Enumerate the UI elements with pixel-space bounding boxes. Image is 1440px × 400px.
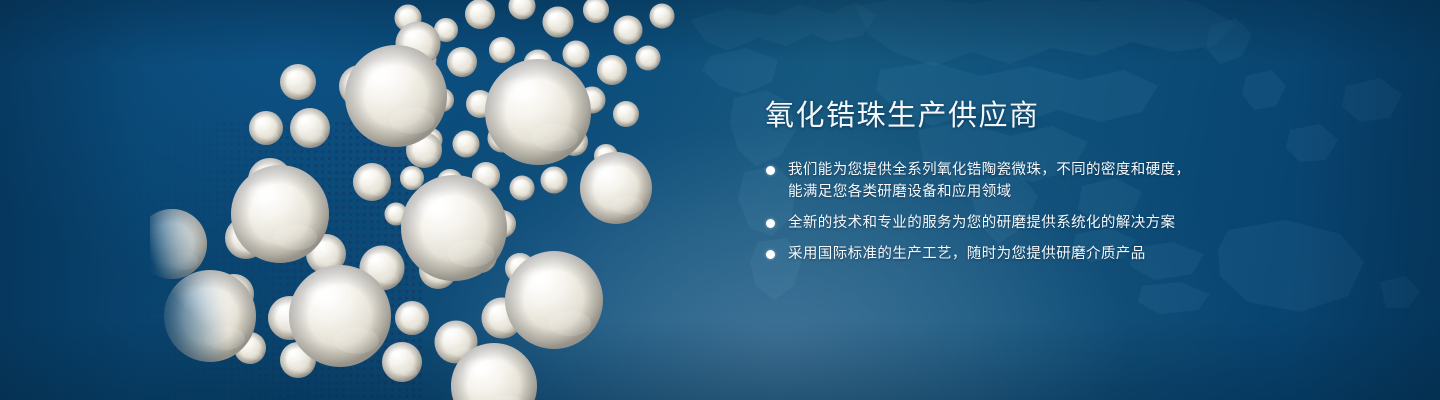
bullet-line: 全新的技术和专业的服务为您的研磨提供系统化的解决方案 bbox=[788, 212, 1322, 234]
list-item: 采用国际标准的生产工艺，随时为您提供研磨介质产品 bbox=[762, 243, 1322, 265]
zirconia-beads-photo bbox=[150, 0, 710, 400]
bullet-dot-icon bbox=[766, 166, 775, 175]
list-item: 全新的技术和专业的服务为您的研磨提供系统化的解决方案 bbox=[762, 212, 1322, 234]
list-item: 我们能为您提供全系列氧化锆陶瓷微珠，不同的密度和硬度， 能满足您各类研磨设备和应… bbox=[762, 159, 1322, 203]
hero-banner: 氧化锆珠生产供应商 我们能为您提供全系列氧化锆陶瓷微珠，不同的密度和硬度， 能满… bbox=[0, 0, 1440, 400]
banner-content: 氧化锆珠生产供应商 我们能为您提供全系列氧化锆陶瓷微珠，不同的密度和硬度， 能满… bbox=[762, 100, 1322, 265]
bullet-line: 采用国际标准的生产工艺，随时为您提供研磨介质产品 bbox=[788, 243, 1322, 265]
bullet-dot-icon bbox=[766, 219, 775, 228]
bullet-dot-icon bbox=[766, 250, 775, 259]
bullet-line: 能满足您各类研磨设备和应用领域 bbox=[788, 181, 1322, 203]
banner-headline: 氧化锆珠生产供应商 bbox=[765, 100, 1322, 133]
bullet-line: 我们能为您提供全系列氧化锆陶瓷微珠，不同的密度和硬度， bbox=[788, 159, 1322, 181]
banner-bullet-list: 我们能为您提供全系列氧化锆陶瓷微珠，不同的密度和硬度， 能满足您各类研磨设备和应… bbox=[762, 159, 1322, 265]
